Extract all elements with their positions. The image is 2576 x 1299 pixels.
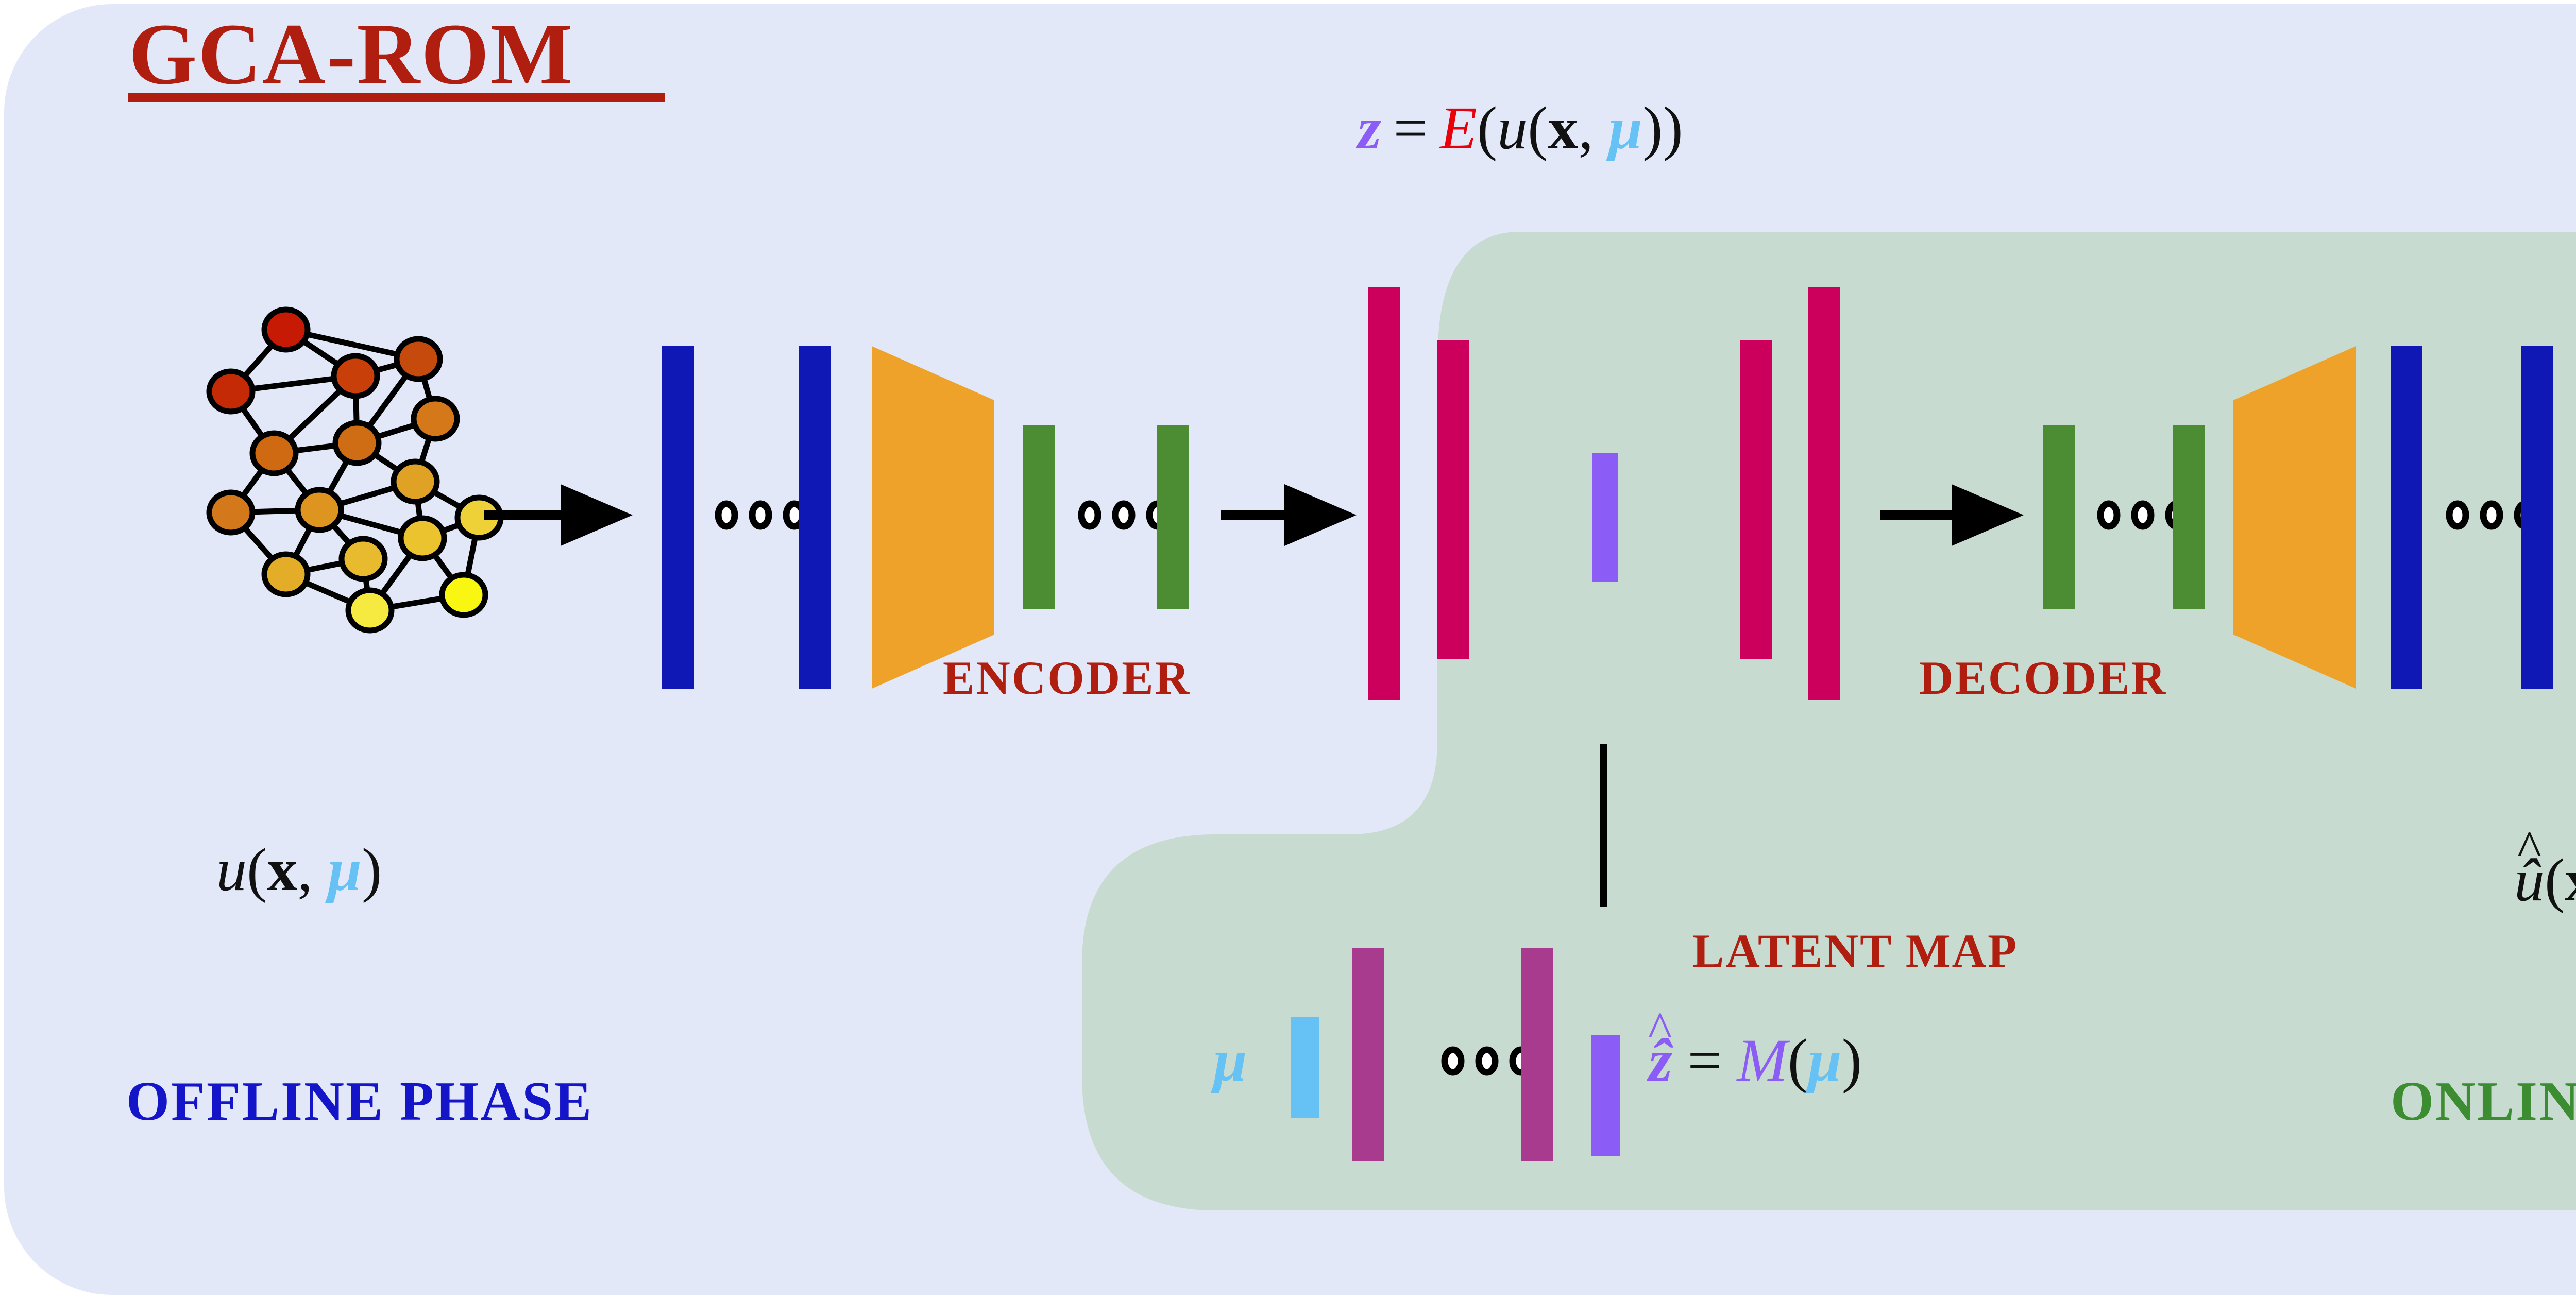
graph-node <box>397 339 440 379</box>
equation-latent-map: ^ẑ = M(μ) <box>1649 1030 1862 1091</box>
lm-bar-1 <box>1352 948 1384 1161</box>
dec-mlp-n <box>2173 425 2205 609</box>
pool-trapezoid <box>872 346 994 689</box>
eq-latent-equals: = <box>1394 94 1428 162</box>
eq-latent-mu: μ <box>1608 94 1642 162</box>
ellipsis-dot-icon <box>2100 504 2117 526</box>
page-title: GCA-ROM <box>129 10 574 98</box>
graph-node <box>394 462 437 502</box>
dec-bar-tall <box>1808 287 1840 700</box>
eq-lm-mu: μ <box>1808 1027 1842 1094</box>
offline-phase-label: OFFLINE PHASE <box>126 1074 593 1130</box>
latent-map-label: LATENT MAP <box>1692 927 2018 975</box>
eq-in-comma: , <box>297 836 313 903</box>
eq-latent-paren-open: ( <box>1477 94 1497 162</box>
eq-out-open: ( <box>2545 846 2565 914</box>
ellipsis-dot-icon <box>1081 504 1098 526</box>
online-phase-label: ONLINE PHASE <box>2391 1074 2576 1130</box>
lm-dots <box>1445 1050 1529 1072</box>
mu-symbol: μ <box>1213 1027 1247 1094</box>
graph-node <box>264 554 308 594</box>
graph-node <box>442 575 485 615</box>
dec-gnn-1 <box>2391 346 2422 689</box>
latent-bar-short <box>1437 340 1469 659</box>
graph-node <box>348 590 392 630</box>
eq-lm-equals: = <box>1687 1027 1722 1094</box>
eq-latent-encoder-op: E <box>1440 94 1477 162</box>
graph-node <box>414 399 457 439</box>
eq-latent-inner-close: ) <box>1642 94 1663 162</box>
graph-node <box>335 423 379 463</box>
dec-gnn-n <box>2521 346 2553 689</box>
gnn-dots-1 <box>718 504 803 526</box>
mu-input-label: μ <box>1213 1030 1247 1091</box>
eq-in-mu: μ <box>328 836 362 903</box>
equation-latent: z = E(u(x, μ)) <box>1358 98 1683 159</box>
eq-lm-open: ( <box>1788 1027 1808 1094</box>
dec-mlp-1 <box>2043 425 2075 609</box>
graph-node <box>209 371 252 412</box>
ellipsis-dot-icon <box>1445 1050 1461 1072</box>
eq-latent-x: x <box>1548 94 1578 162</box>
mlp-layer-n <box>1157 425 1189 609</box>
eq-latent-u: u <box>1497 94 1528 162</box>
ellipsis-dot-icon <box>718 504 735 526</box>
dec-bar-short <box>1740 340 1772 659</box>
eq-lm-map-op: M <box>1737 1027 1787 1094</box>
eq-in-u: u <box>216 836 247 903</box>
gnn-layer-1 <box>662 346 694 689</box>
encoder-label: ENCODER <box>943 654 1191 702</box>
graph-node <box>334 356 377 396</box>
ellipsis-dot-icon <box>1115 504 1132 526</box>
graph-node <box>401 518 444 558</box>
graph-node <box>209 492 252 533</box>
latent-code-z <box>1592 453 1618 582</box>
eq-out-x: x <box>2565 846 2576 914</box>
graph-node <box>264 310 308 350</box>
lm-bar-n <box>1521 948 1553 1161</box>
equation-input-field: u(x, μ) <box>216 840 382 900</box>
eq-lm-close: ) <box>1842 1027 1862 1094</box>
mu-input-bar <box>1291 1017 1319 1118</box>
ellipsis-dot-icon <box>2449 504 2466 526</box>
equation-output-field: ^û(x, μ) = D(z) <box>2514 850 2576 911</box>
dec-mlp-dots <box>2100 504 2185 526</box>
decoder-label: DECODER <box>1919 654 2167 702</box>
eq-in-open: ( <box>247 836 267 903</box>
ellipsis-dot-icon <box>2483 504 2500 526</box>
eq-in-x: x <box>267 836 297 903</box>
eq-latent-comma: , <box>1578 94 1594 162</box>
hat-accent-z-icon: ^ <box>1648 1004 1672 1056</box>
eq-latent-z: z <box>1358 94 1381 162</box>
ellipsis-dot-icon <box>2134 504 2151 526</box>
eq-in-close: ) <box>362 836 382 903</box>
hat-accent-u-icon: ^ <box>2517 823 2541 875</box>
lm-out-zhat <box>1591 1035 1620 1156</box>
latent-bar-tall <box>1368 287 1400 700</box>
graph-node <box>298 490 341 530</box>
ellipsis-dot-icon <box>752 504 769 526</box>
mlp-dots <box>1081 504 1166 526</box>
unpool-trapezoid <box>2233 346 2356 689</box>
mlp-layer-1 <box>1023 425 1055 609</box>
gnn-layer-n <box>799 346 831 689</box>
eq-latent-paren-close: ) <box>1663 94 1683 162</box>
figure-canvas: GCA-ROM z = E(u(x, μ)) u(x, μ) ^û(x, μ)… <box>0 0 2576 1299</box>
eq-latent-inner-open: ( <box>1528 94 1548 162</box>
graph-node <box>342 539 385 579</box>
ellipsis-dot-icon <box>1479 1050 1495 1072</box>
graph-node <box>252 433 296 473</box>
